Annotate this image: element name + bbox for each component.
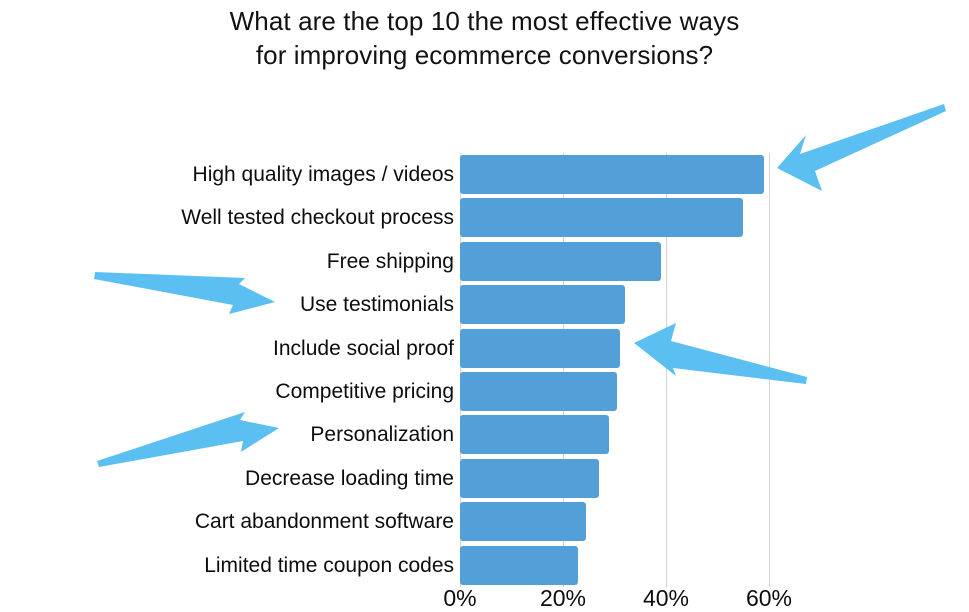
x-axis-tick-labels: 0%20%40%60%	[0, 585, 969, 612]
category-label: Cart abandonment software	[40, 500, 454, 543]
x-tick-label: 0%	[410, 585, 510, 612]
bar-row	[460, 544, 780, 587]
bar[interactable]	[460, 155, 764, 194]
x-tick-label: 60%	[719, 585, 819, 612]
bar[interactable]	[460, 502, 586, 541]
bar-row	[460, 283, 780, 326]
bar[interactable]	[460, 372, 617, 411]
bar[interactable]	[460, 459, 599, 498]
category-label: Decrease loading time	[40, 457, 454, 500]
category-label: High quality images / videos	[40, 153, 454, 196]
bar[interactable]	[460, 546, 578, 585]
bar-row	[460, 413, 780, 456]
bar-series	[460, 153, 780, 587]
category-axis-labels: High quality images / videosWell tested …	[40, 153, 454, 587]
bar-row	[460, 500, 780, 543]
bar[interactable]	[460, 242, 661, 281]
x-tick-label: 20%	[513, 585, 613, 612]
x-tick-label: 40%	[616, 585, 716, 612]
bar-row	[460, 327, 780, 370]
bar[interactable]	[460, 415, 609, 454]
bar[interactable]	[460, 198, 743, 237]
category-label: Use testimonials	[40, 283, 454, 326]
category-label: Limited time coupon codes	[40, 544, 454, 587]
category-label: Competitive pricing	[40, 370, 454, 413]
category-label: Well tested checkout process	[40, 196, 454, 239]
bar[interactable]	[460, 285, 625, 324]
chart-title: What are the top 10 the most effective w…	[0, 4, 969, 72]
category-label: Free shipping	[40, 240, 454, 283]
bar-row	[460, 370, 780, 413]
category-label: Personalization	[40, 413, 454, 456]
bar-row	[460, 196, 780, 239]
arrow-high-quality-images-icon	[777, 104, 946, 191]
bar-row	[460, 457, 780, 500]
bar[interactable]	[460, 329, 620, 368]
plot-area	[460, 153, 780, 587]
bar-row	[460, 240, 780, 283]
bar-row	[460, 153, 780, 196]
chart-page: What are the top 10 the most effective w…	[0, 0, 969, 612]
category-label: Include social proof	[40, 327, 454, 370]
